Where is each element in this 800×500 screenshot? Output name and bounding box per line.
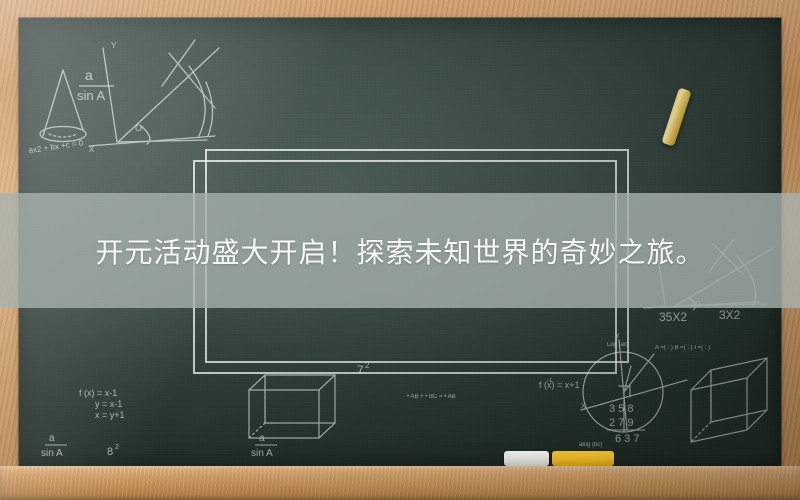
chalk-strokes-top-left [40, 40, 219, 146]
chalk-inverse-power: -1 [547, 378, 553, 384]
chalk-strokes-bottom-center [249, 375, 335, 438]
chalk-frac-sina-1: sin A [41, 448, 63, 459]
chalk-frac-sina-2: sin A [251, 448, 273, 459]
chalk-fraction-numerator: a [85, 67, 93, 83]
chalk-label-axis-y: Y [111, 41, 117, 50]
chalk-frac-a-1: a [49, 433, 55, 444]
chalk-matrix-set: A =( : ) B =( : ) I =( : ) [655, 345, 710, 351]
chalk-label-axis-x-right: X [581, 403, 586, 410]
chalk-division-row-3: 6 3 7 [615, 433, 639, 445]
chalk-division-row-1: 3 5 8 [609, 403, 633, 415]
chalk-matrix-a: 35X2 [659, 310, 687, 324]
chalk-quadratic-equation: ax2 + bx +c = 0 [28, 138, 84, 155]
blackboard-banner-stage: Y X O a sin A ax2 + bx +c = 0 f (x) = x-… [0, 0, 800, 500]
chalk-matrix-b: 3X2 [719, 308, 741, 322]
headline-text: 开元活动盛大开启！探索未知世界的奇妙之旅。 [95, 231, 704, 271]
chalk-division-row-2: 2 7 9 [609, 417, 633, 429]
chalk-set-expression: • AB + • BC = • AB [407, 394, 456, 400]
chalk-frac-a-2: a [259, 433, 265, 444]
chalk-function-line-1: f (x) = x-1 [79, 388, 117, 398]
headline-banner-band: 开元活动盛大开启！探索未知世界的奇妙之旅。 [0, 193, 800, 308]
chalk-eight-base: 8 [107, 446, 113, 458]
chalk-piece-white-icon [504, 451, 549, 466]
chalk-eight-power: 2 [115, 444, 119, 451]
chalk-piece-yellow-icon [552, 451, 614, 466]
chalk-function-line-2: y = x-1 [95, 399, 122, 409]
chalk-function-line-3: x = y+1 [95, 410, 125, 420]
chalk-alog-label: alog (bc) [579, 442, 602, 448]
chalk-label-axis-x: X [89, 145, 95, 154]
chalk-label-angle: O [135, 123, 142, 133]
chalk-inverse-function: f (x) = x+1 [539, 380, 580, 390]
chalk-fraction-denominator: sin A [77, 88, 106, 103]
chalk-tray-shelf [0, 466, 800, 500]
